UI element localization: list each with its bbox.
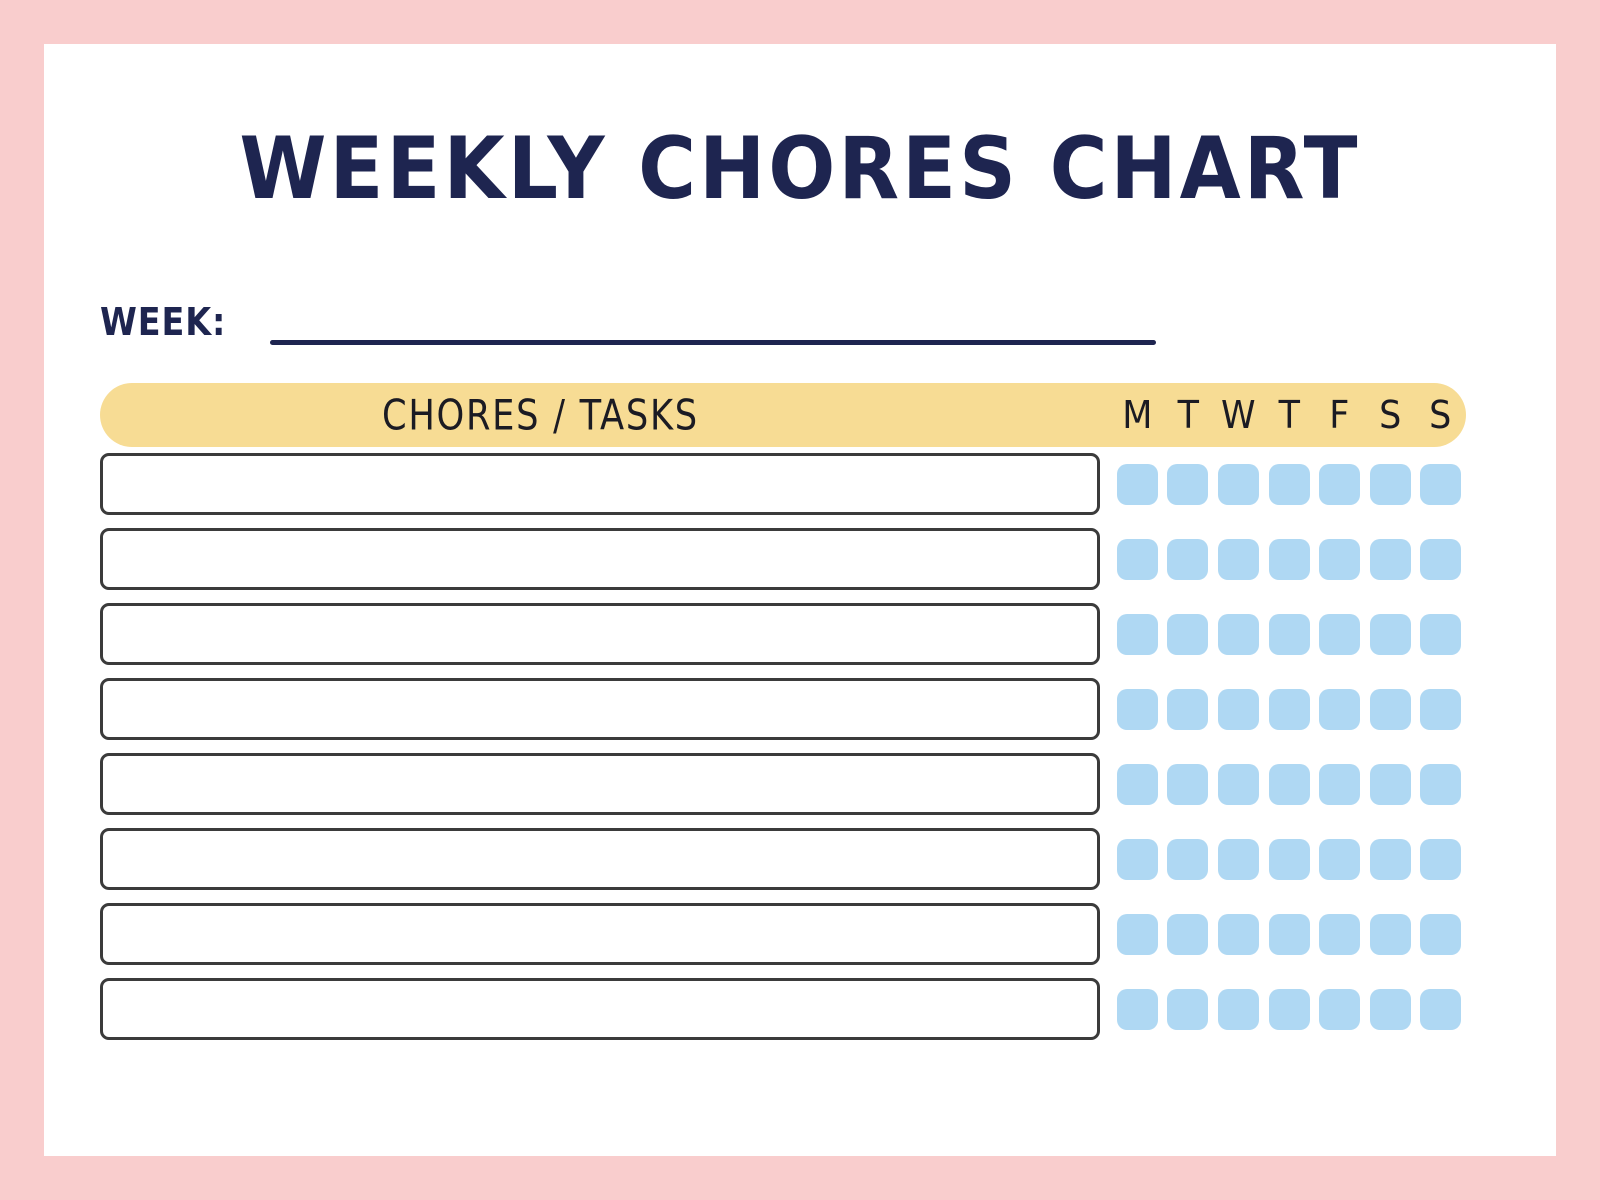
- checkbox-icon[interactable]: [1319, 539, 1360, 580]
- day-cell-sunday[interactable]: [1415, 989, 1466, 1030]
- checkbox-icon[interactable]: [1420, 989, 1461, 1030]
- checkbox-icon[interactable]: [1218, 914, 1259, 955]
- row-day-checkboxes: [1112, 753, 1466, 815]
- day-cell-sunday[interactable]: [1415, 539, 1466, 580]
- checkbox-icon[interactable]: [1319, 689, 1360, 730]
- checkbox-icon[interactable]: [1117, 914, 1158, 955]
- checkbox-icon[interactable]: [1167, 539, 1208, 580]
- table-row: [100, 678, 1466, 740]
- table-header-bar: CHORES / TASKS M T W T F S S: [100, 383, 1466, 447]
- day-cell-saturday[interactable]: [1365, 914, 1416, 955]
- checkbox-icon[interactable]: [1420, 614, 1461, 655]
- day-cell-monday[interactable]: [1112, 989, 1163, 1030]
- day-cell-monday[interactable]: [1112, 689, 1163, 730]
- day-cell-saturday[interactable]: [1365, 764, 1416, 805]
- task-input[interactable]: [100, 753, 1100, 815]
- day-cell-sunday[interactable]: [1415, 839, 1466, 880]
- week-write-in-line[interactable]: [270, 340, 1156, 345]
- page-title: WEEKLY CHORES CHART: [29, 126, 1571, 212]
- day-cell-thursday[interactable]: [1264, 614, 1315, 655]
- checkbox-icon[interactable]: [1269, 689, 1310, 730]
- checkbox-icon[interactable]: [1117, 464, 1158, 505]
- row-day-checkboxes: [1112, 828, 1466, 890]
- row-day-checkboxes: [1112, 453, 1466, 515]
- day-cell-tuesday[interactable]: [1163, 614, 1214, 655]
- checkbox-icon[interactable]: [1218, 539, 1259, 580]
- column-headers-days: M T W T F S S: [1112, 383, 1466, 447]
- day-cell-monday[interactable]: [1112, 914, 1163, 955]
- day-cell-tuesday[interactable]: [1163, 989, 1214, 1030]
- checkbox-icon[interactable]: [1370, 464, 1411, 505]
- checkbox-icon[interactable]: [1370, 914, 1411, 955]
- checkbox-icon[interactable]: [1370, 539, 1411, 580]
- day-cell-thursday[interactable]: [1264, 989, 1315, 1030]
- task-input[interactable]: [100, 603, 1100, 665]
- checkbox-icon[interactable]: [1167, 689, 1208, 730]
- day-cell-tuesday[interactable]: [1163, 689, 1214, 730]
- day-cell-sunday[interactable]: [1415, 689, 1466, 730]
- checkbox-icon[interactable]: [1370, 764, 1411, 805]
- day-cell-sunday[interactable]: [1415, 764, 1466, 805]
- checkbox-icon[interactable]: [1167, 614, 1208, 655]
- printable-sheet: WEEKLY CHORES CHART WEEK: CHORES / TASKS…: [44, 44, 1556, 1156]
- day-cell-friday[interactable]: [1314, 914, 1365, 955]
- row-day-checkboxes: [1112, 603, 1466, 665]
- day-cell-monday[interactable]: [1112, 539, 1163, 580]
- day-cell-sunday[interactable]: [1415, 614, 1466, 655]
- table-row: [100, 978, 1466, 1040]
- day-cell-friday[interactable]: [1314, 764, 1365, 805]
- day-cell-wednesday[interactable]: [1213, 914, 1264, 955]
- column-header-day-tuesday: T: [1165, 393, 1212, 437]
- checkbox-icon[interactable]: [1167, 839, 1208, 880]
- day-cell-tuesday[interactable]: [1163, 539, 1214, 580]
- day-cell-friday[interactable]: [1314, 839, 1365, 880]
- checkbox-icon[interactable]: [1218, 464, 1259, 505]
- day-cell-thursday[interactable]: [1264, 839, 1315, 880]
- checkbox-icon[interactable]: [1269, 839, 1310, 880]
- checkbox-icon[interactable]: [1319, 614, 1360, 655]
- column-header-day-saturday: S: [1367, 393, 1414, 437]
- column-header-day-monday: M: [1114, 393, 1161, 437]
- checkbox-icon[interactable]: [1269, 539, 1310, 580]
- checkbox-icon[interactable]: [1319, 914, 1360, 955]
- day-cell-monday[interactable]: [1112, 764, 1163, 805]
- day-cell-thursday[interactable]: [1264, 689, 1315, 730]
- row-day-checkboxes: [1112, 978, 1466, 1040]
- checkbox-icon[interactable]: [1167, 764, 1208, 805]
- column-header-day-friday: F: [1316, 393, 1363, 437]
- checkbox-icon[interactable]: [1117, 614, 1158, 655]
- day-cell-tuesday[interactable]: [1163, 839, 1214, 880]
- day-cell-monday[interactable]: [1112, 614, 1163, 655]
- checkbox-icon[interactable]: [1319, 989, 1360, 1030]
- day-cell-saturday[interactable]: [1365, 989, 1416, 1030]
- checkbox-icon[interactable]: [1218, 689, 1259, 730]
- checkbox-icon[interactable]: [1269, 764, 1310, 805]
- checkbox-icon[interactable]: [1319, 839, 1360, 880]
- task-input[interactable]: [100, 453, 1100, 515]
- day-cell-thursday[interactable]: [1264, 464, 1315, 505]
- checkbox-icon[interactable]: [1370, 614, 1411, 655]
- day-cell-monday[interactable]: [1112, 839, 1163, 880]
- row-day-checkboxes: [1112, 903, 1466, 965]
- checkbox-icon[interactable]: [1420, 539, 1461, 580]
- day-cell-monday[interactable]: [1112, 464, 1163, 505]
- table-row: [100, 828, 1466, 890]
- row-day-checkboxes: [1112, 678, 1466, 740]
- checkbox-icon[interactable]: [1167, 464, 1208, 505]
- day-cell-thursday[interactable]: [1264, 539, 1315, 580]
- day-cell-sunday[interactable]: [1415, 914, 1466, 955]
- page-title-text: WEEKLY CHORES CHART: [239, 119, 1360, 219]
- checkbox-icon[interactable]: [1218, 614, 1259, 655]
- day-cell-thursday[interactable]: [1264, 914, 1315, 955]
- day-cell-saturday[interactable]: [1365, 464, 1416, 505]
- day-cell-tuesday[interactable]: [1163, 914, 1214, 955]
- checkbox-icon[interactable]: [1420, 914, 1461, 955]
- checkbox-icon[interactable]: [1420, 839, 1461, 880]
- day-cell-saturday[interactable]: [1365, 614, 1416, 655]
- day-cell-wednesday[interactable]: [1213, 539, 1264, 580]
- checkbox-icon[interactable]: [1420, 689, 1461, 730]
- week-label: WEEK:: [100, 300, 226, 344]
- day-cell-wednesday[interactable]: [1213, 764, 1264, 805]
- checkbox-icon[interactable]: [1117, 839, 1158, 880]
- task-input[interactable]: [100, 903, 1100, 965]
- day-cell-wednesday[interactable]: [1213, 989, 1264, 1030]
- day-cell-wednesday[interactable]: [1213, 614, 1264, 655]
- checkbox-icon[interactable]: [1167, 914, 1208, 955]
- checkbox-icon[interactable]: [1269, 614, 1310, 655]
- checkbox-icon[interactable]: [1269, 464, 1310, 505]
- checkbox-icon[interactable]: [1167, 989, 1208, 1030]
- column-header-day-sunday: S: [1417, 393, 1464, 437]
- day-cell-wednesday[interactable]: [1213, 839, 1264, 880]
- checkbox-icon[interactable]: [1269, 989, 1310, 1030]
- day-cell-tuesday[interactable]: [1163, 464, 1214, 505]
- day-cell-sunday[interactable]: [1415, 464, 1466, 505]
- task-input[interactable]: [100, 678, 1100, 740]
- checkbox-icon[interactable]: [1218, 989, 1259, 1030]
- day-cell-saturday[interactable]: [1365, 839, 1416, 880]
- chores-rows: [100, 453, 1466, 1053]
- checkbox-icon[interactable]: [1420, 464, 1461, 505]
- table-row: [100, 753, 1466, 815]
- checkbox-icon[interactable]: [1117, 764, 1158, 805]
- checkbox-icon[interactable]: [1319, 764, 1360, 805]
- day-cell-friday[interactable]: [1314, 539, 1365, 580]
- day-cell-tuesday[interactable]: [1163, 764, 1214, 805]
- day-cell-friday[interactable]: [1314, 989, 1365, 1030]
- checkbox-icon[interactable]: [1370, 989, 1411, 1030]
- day-cell-friday[interactable]: [1314, 464, 1365, 505]
- checkbox-icon[interactable]: [1218, 764, 1259, 805]
- column-header-day-thursday: T: [1266, 393, 1313, 437]
- task-input[interactable]: [100, 828, 1100, 890]
- day-cell-thursday[interactable]: [1264, 764, 1315, 805]
- week-field: WEEK:: [100, 292, 1200, 358]
- checkbox-icon[interactable]: [1370, 839, 1411, 880]
- table-row: [100, 453, 1466, 515]
- checkbox-icon[interactable]: [1117, 989, 1158, 1030]
- checkbox-icon[interactable]: [1319, 464, 1360, 505]
- checkbox-icon[interactable]: [1420, 764, 1461, 805]
- day-cell-friday[interactable]: [1314, 614, 1365, 655]
- day-cell-wednesday[interactable]: [1213, 689, 1264, 730]
- day-cell-friday[interactable]: [1314, 689, 1365, 730]
- day-cell-saturday[interactable]: [1365, 689, 1416, 730]
- checkbox-icon[interactable]: [1117, 539, 1158, 580]
- day-cell-wednesday[interactable]: [1213, 464, 1264, 505]
- checkbox-icon[interactable]: [1117, 689, 1158, 730]
- task-input[interactable]: [100, 978, 1100, 1040]
- task-input[interactable]: [100, 528, 1100, 590]
- column-header-chores-tasks: CHORES / TASKS: [382, 391, 699, 440]
- checkbox-icon[interactable]: [1269, 914, 1310, 955]
- table-row: [100, 528, 1466, 590]
- row-day-checkboxes: [1112, 528, 1466, 590]
- checkbox-icon[interactable]: [1370, 689, 1411, 730]
- day-cell-saturday[interactable]: [1365, 539, 1416, 580]
- table-row: [100, 603, 1466, 665]
- column-header-day-wednesday: W: [1215, 393, 1262, 437]
- table-row: [100, 903, 1466, 965]
- checkbox-icon[interactable]: [1218, 839, 1259, 880]
